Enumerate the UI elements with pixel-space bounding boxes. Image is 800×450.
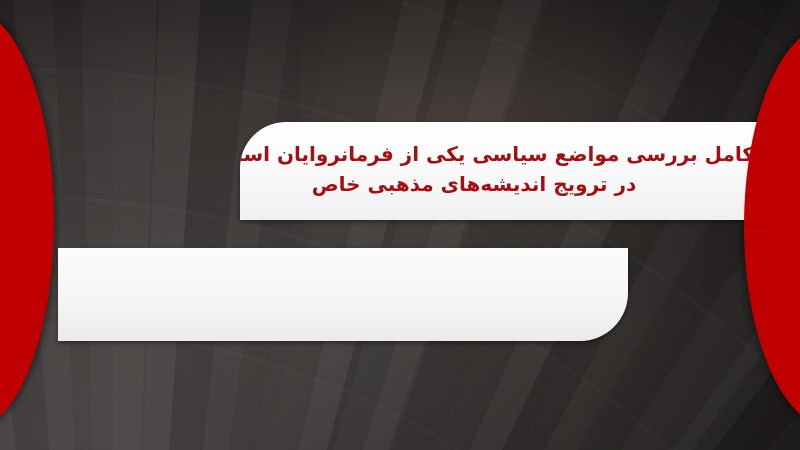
background-vignette (0, 0, 800, 450)
content-text (58, 248, 628, 268)
presentation-slide: کامل بررسی مواضع سیاسی یکی از فرمانروایا… (0, 0, 800, 450)
title-line-1: کامل بررسی مواضع سیاسی یکی از فرمانروایا… (250, 139, 754, 169)
title-placeholder[interactable]: کامل بررسی مواضع سیاسی یکی از فرمانروایا… (240, 122, 768, 220)
content-placeholder[interactable] (58, 248, 628, 341)
title-line-2: در ترویج اندیشه‌های مذهبی خاص (240, 169, 754, 199)
